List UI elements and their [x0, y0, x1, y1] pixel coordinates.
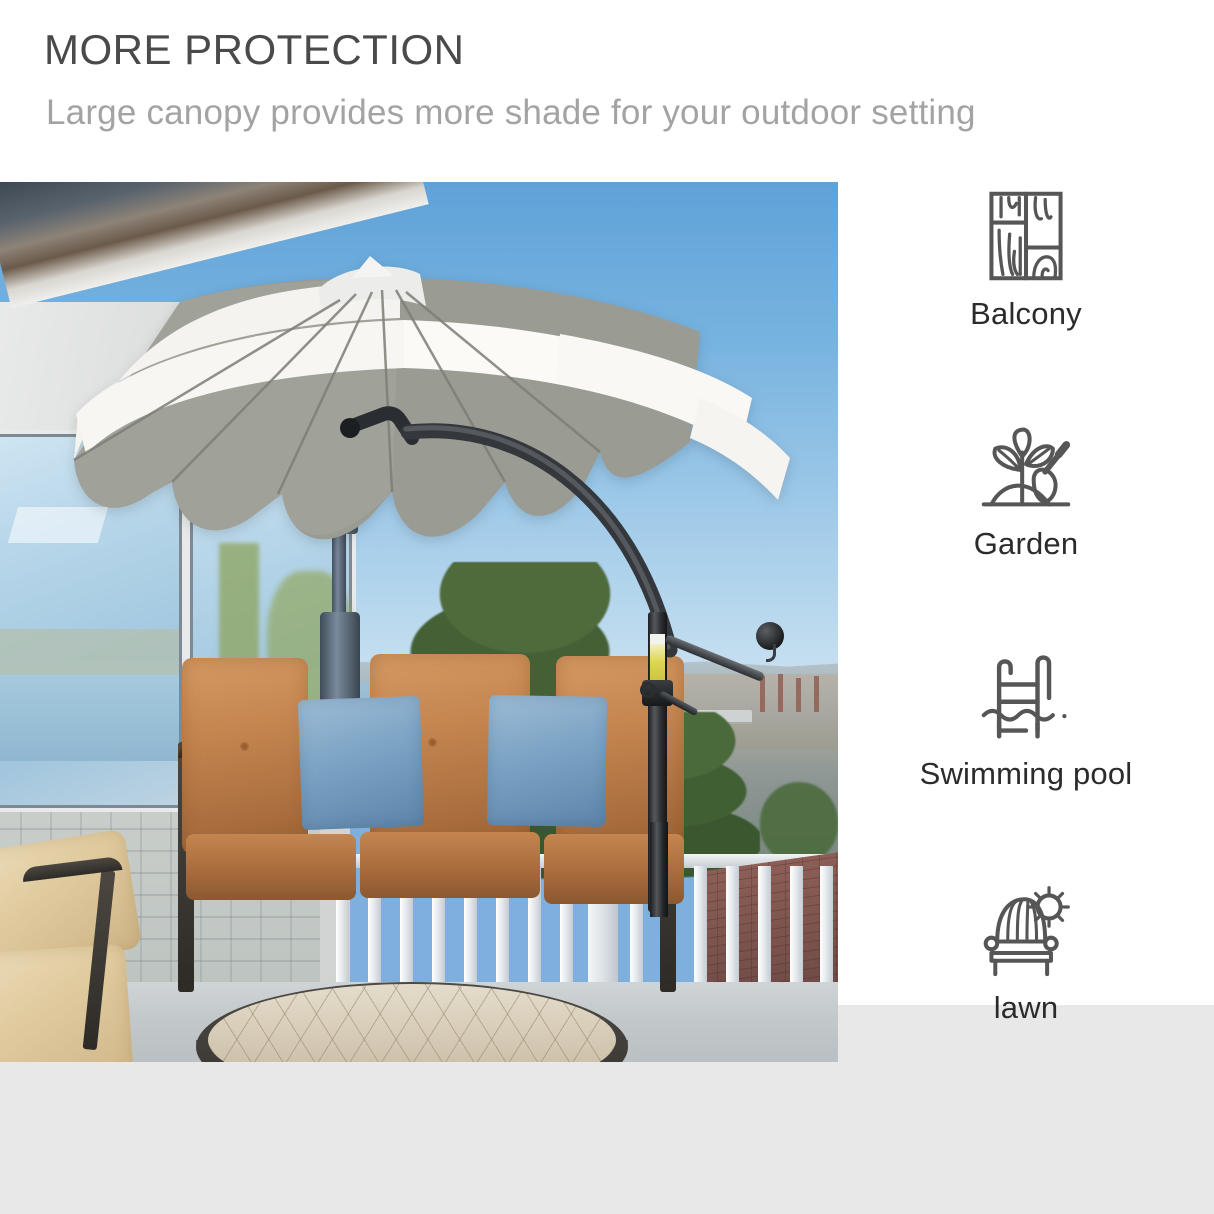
railing-baluster — [820, 866, 833, 990]
plant-trowel-icon — [978, 418, 1074, 514]
shrub — [760, 782, 838, 862]
page-title: MORE PROTECTION — [44, 26, 465, 74]
page-subtitle: Large canopy provides more shade for you… — [46, 93, 976, 133]
pool-ladder-icon — [978, 648, 1074, 744]
umbrella-base-shaft — [650, 822, 668, 917]
product-photo — [0, 182, 838, 1062]
feature-item-swimming-pool[interactable]: Swimming pool — [838, 648, 1214, 792]
pole-yellow-warning-label — [650, 644, 665, 684]
feature-item-balcony[interactable]: Balcony — [838, 188, 1214, 332]
feature-icon-column: Balcony — [838, 182, 1214, 1214]
railing-baluster — [790, 866, 803, 990]
sofa-seat-cushion — [186, 834, 356, 900]
feature-label: Swimming pool — [838, 756, 1214, 792]
feature-label: Garden — [838, 526, 1214, 562]
header: MORE PROTECTION Large canopy provides mo… — [0, 0, 1214, 182]
umbrella-crank-handle — [640, 682, 656, 698]
sofa-seat-cushion — [360, 832, 540, 898]
feature-item-lawn[interactable]: lawn — [838, 882, 1214, 1026]
cushion-tuft — [240, 742, 249, 751]
feature-item-garden[interactable]: Garden — [838, 418, 1214, 562]
lawn-chair-sun-icon — [978, 882, 1074, 978]
railing-baluster — [694, 866, 707, 990]
armchair-seat-cushion — [0, 944, 135, 1062]
wood-deck-icon — [978, 188, 1074, 284]
railing-baluster — [726, 866, 739, 990]
railing-baluster — [758, 866, 771, 990]
feature-label: Balcony — [838, 296, 1214, 332]
feature-label: lawn — [838, 990, 1214, 1026]
